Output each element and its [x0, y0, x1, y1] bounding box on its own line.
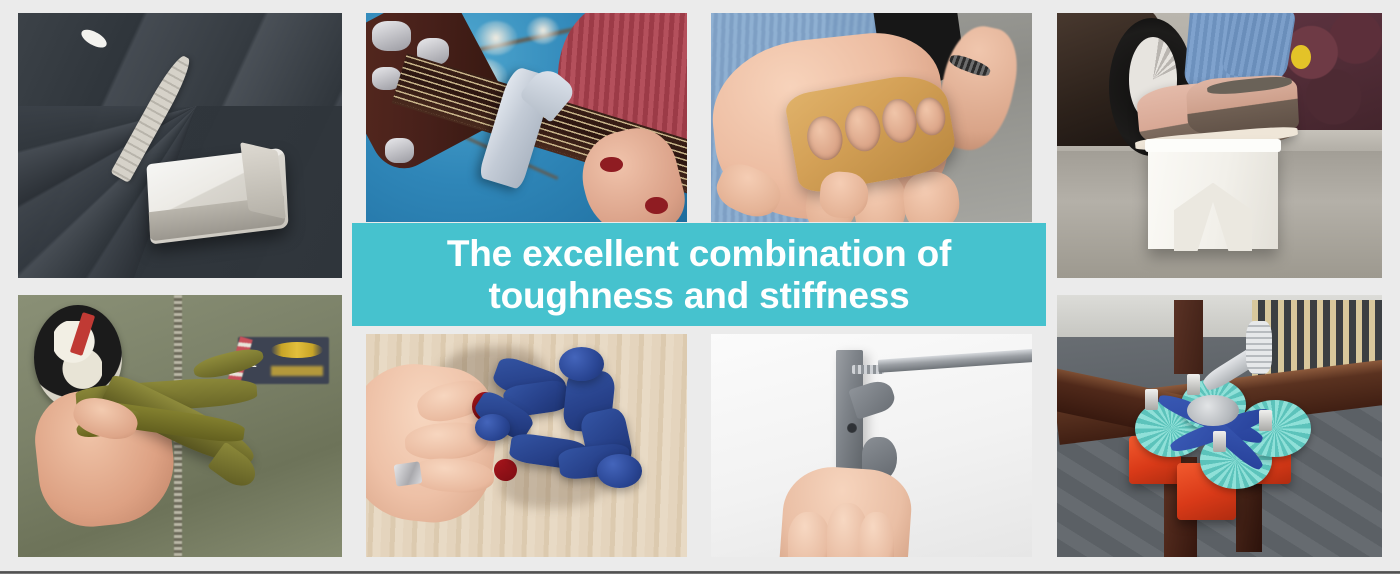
pilot-wings-icon — [271, 342, 323, 358]
guitar-capo-photo[interactable] — [366, 13, 687, 222]
headline-banner: The excellent combination of toughness a… — [352, 223, 1046, 326]
clamp-bolt — [1145, 389, 1158, 410]
railing-post — [1174, 300, 1203, 373]
clamp-center-hub — [1187, 395, 1239, 426]
finger — [859, 512, 894, 557]
model-jet-photo[interactable]: 41 — [18, 295, 342, 557]
finger — [788, 512, 830, 557]
knuckle-duster-photo[interactable] — [711, 13, 1032, 222]
wall-hook-photo[interactable] — [711, 334, 1032, 557]
knuckle-duster-image — [711, 13, 1032, 222]
name-tag-text — [271, 366, 323, 376]
articulated-toy-image — [366, 334, 687, 557]
headline-text: The excellent combination of toughness a… — [433, 233, 965, 316]
clamp-bolt — [1187, 374, 1200, 395]
blossom-cluster — [527, 17, 559, 44]
promo-banner-stage: 41 — [0, 0, 1400, 574]
model-jet-image: 41 — [18, 295, 342, 557]
corner-clamp-photo[interactable] — [1057, 295, 1382, 557]
toy-joint-ball — [559, 347, 604, 380]
toy-joint-ball — [597, 454, 642, 487]
stool-top-surface — [1145, 139, 1282, 152]
finger-ring — [393, 462, 422, 488]
fingernail — [600, 157, 622, 172]
thor-hammer-photo[interactable] — [18, 13, 342, 278]
fingernail — [645, 197, 667, 214]
clamp-bolt — [1213, 431, 1226, 452]
thor-hammer-image — [18, 13, 342, 278]
crank-handle-grip — [1246, 321, 1272, 373]
clamp-bolt — [1259, 410, 1272, 431]
articulated-toy-photo[interactable] — [366, 334, 687, 557]
headline-line-1: The excellent combination of — [447, 233, 951, 274]
tuning-peg — [372, 21, 411, 50]
guitar-capo-image — [366, 13, 687, 222]
yellow-flower — [1291, 45, 1311, 69]
step-stool-image — [1057, 13, 1382, 278]
fingernail — [494, 459, 516, 481]
corner-clamp-image — [1057, 295, 1382, 557]
tuning-peg — [385, 138, 414, 163]
step-stool-photo[interactable] — [1057, 13, 1382, 278]
headline-line-2: toughness and stiffness — [447, 275, 951, 316]
wall-hook-image — [711, 334, 1032, 557]
